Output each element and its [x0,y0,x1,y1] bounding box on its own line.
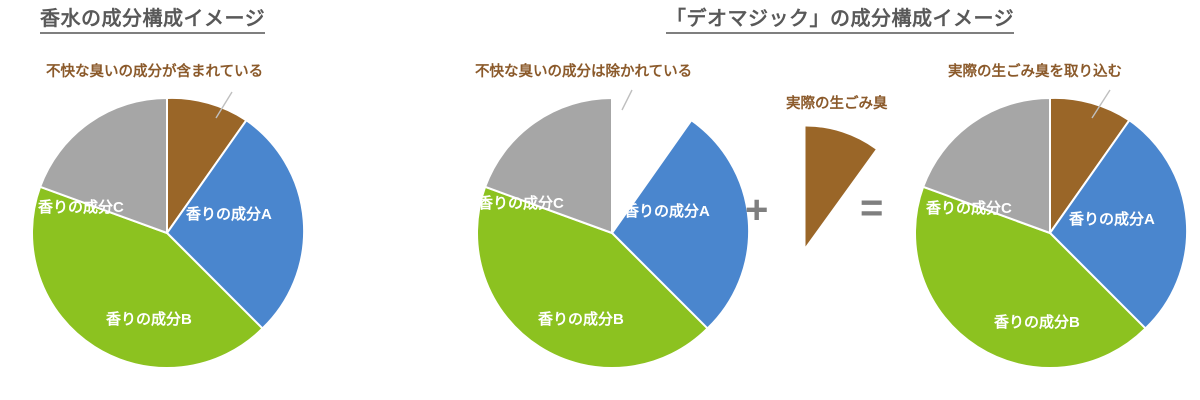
callout-right-pie: 実際の生ごみ臭を取り込む [948,64,1122,81]
pie-charts-graphics [0,0,1200,400]
callout-left-pie: 不快な臭いの成分が含まれている [46,64,263,81]
callout-wedge: 実際の生ごみ臭 [786,96,888,113]
operator-equals: = [860,188,883,228]
operator-plus: + [745,190,768,230]
diagram-canvas: 香水の成分構成イメージ 「デオマジック」の成分構成イメージ [0,0,1200,400]
deomagic-base-pie [477,90,749,368]
callout-mid-pie: 不快な臭いの成分は除かれている [475,64,692,81]
perfume-composition-pie [32,92,304,368]
deomagic-result-pie [915,90,1187,368]
